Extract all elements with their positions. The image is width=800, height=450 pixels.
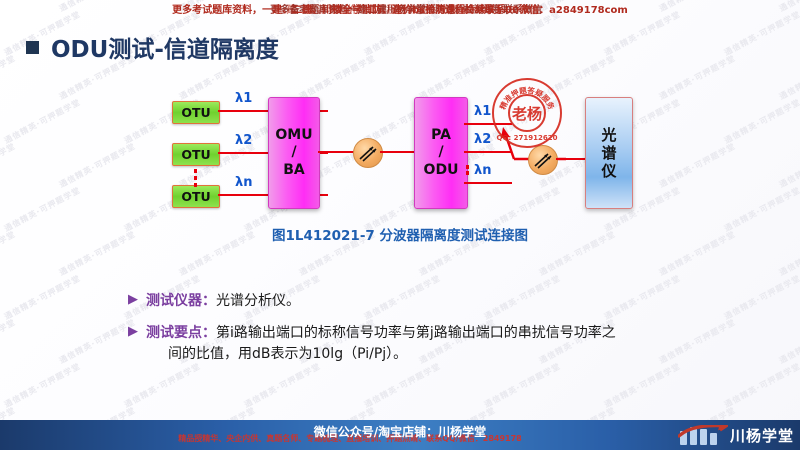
figure-caption: 图1L412021-7 分波器隔离度测试连接图 bbox=[0, 224, 800, 244]
seal-qq-text: QQ: 271912620 bbox=[497, 134, 558, 142]
watermark-tile: 通信精英·可押题学堂 bbox=[722, 361, 800, 411]
bullet-text-1: 光谱分析仪。 bbox=[216, 293, 300, 309]
bullet-label-1: 测试仪器： bbox=[146, 293, 216, 309]
square-bullet-icon bbox=[26, 41, 39, 54]
wire-atten-to-spectrometer bbox=[556, 158, 588, 160]
seal-center-text: 老杨 bbox=[508, 94, 546, 132]
top-marquee-bar: 一建二建消防造价检测课程咨询联系微信 a2849178 更多备考题库资料一建二建… bbox=[0, 0, 800, 20]
pa-odu-line-2: / bbox=[438, 144, 443, 162]
bullet-label-2: 测试要点： bbox=[146, 325, 216, 341]
slide-canvas: 通信精英·可押题学堂通信精英·可押题学堂通信精英·可押题学堂通信精英·可押题学堂… bbox=[0, 0, 800, 450]
otu-box-1: OTU bbox=[172, 101, 220, 124]
bullet-text-2: 第i路输出端口的标称信号功率与第j路输出端口的串扰信号功率之 bbox=[216, 325, 616, 341]
watermark-tile: 通信精英·可押题学堂 bbox=[2, 273, 82, 323]
brand-logo: 川杨学堂 bbox=[678, 422, 794, 448]
watermark-tile: 通信精英·可押题学堂 bbox=[0, 317, 18, 367]
lambda-input-3: λn bbox=[235, 175, 252, 190]
bullet-list: ▶ 测试仪器：光谱分析仪。 ▶ 测试要点：第i路输出端口的标称信号功率与第j路输… bbox=[128, 290, 728, 375]
watermark-tile: 通信精英·可押题学堂 bbox=[722, 273, 800, 323]
watermark-tile: 通信精英·可押题学堂 bbox=[57, 317, 137, 367]
bullet-arrow-icon-1: ▶ bbox=[128, 290, 138, 310]
omu-ba-line-2: / bbox=[291, 144, 296, 162]
spectrometer-line-2: 谱 bbox=[601, 144, 616, 162]
lambda-input-2: λ2 bbox=[235, 133, 252, 148]
page-title-text: ODU测试-信道隔离度 bbox=[51, 30, 279, 64]
omu-ba-line-1: OMU bbox=[275, 127, 312, 145]
otu-box-3: OTU bbox=[172, 185, 220, 208]
wire-output-3 bbox=[464, 182, 512, 184]
lambda-output-2: λ2 bbox=[474, 132, 491, 147]
wire-atten-to-pa bbox=[380, 151, 418, 153]
connection-diagram: OTU OTU OTU λ1 λ2 λn OMU / BA bbox=[0, 75, 800, 235]
spectrometer-line-3: 仪 bbox=[601, 162, 616, 180]
otu-box-2: OTU bbox=[172, 143, 220, 166]
lambda-output-3: λn bbox=[474, 163, 491, 178]
logo-swoosh-icon bbox=[678, 425, 728, 438]
watermark-tile: 通信精英·可押题学堂 bbox=[2, 361, 82, 411]
bullet-item-1: ▶ 测试仪器：光谱分析仪。 bbox=[128, 290, 728, 313]
output-ellipsis-icon bbox=[466, 165, 469, 175]
otu-ellipsis-icon bbox=[194, 169, 197, 187]
chuanyang-logo-icon bbox=[678, 423, 726, 447]
omu-ba-line-3: BA bbox=[283, 162, 305, 180]
lambda-output-1: λ1 bbox=[474, 104, 491, 119]
pa-odu-line-1: PA bbox=[431, 127, 451, 145]
brand-logo-text: 川杨学堂 bbox=[730, 425, 794, 446]
spectrometer-line-1: 光 bbox=[601, 126, 616, 144]
variable-attenuator-icon-2 bbox=[528, 145, 558, 175]
wire-omu-to-atten bbox=[318, 151, 356, 153]
bullet-item-2: ▶ 测试要点：第i路输出端口的标称信号功率与第j路输出端口的串扰信号功率之 间的… bbox=[128, 322, 728, 366]
top-marquee-line-1: 更多考试题库资料，一建、二建、川楼全学消防、造价bs检测课程持续联系00微信：a… bbox=[0, 1, 800, 16]
pa-odu-box: PA / ODU bbox=[414, 97, 468, 209]
omu-ba-box: OMU / BA bbox=[268, 97, 320, 209]
page-title: ODU测试-信道隔离度 bbox=[26, 30, 279, 64]
bullet-arrow-icon-2: ▶ bbox=[128, 322, 138, 342]
variable-attenuator-icon-1 bbox=[353, 138, 383, 168]
pa-odu-line-3: ODU bbox=[424, 162, 459, 180]
watermark-tile: 通信精英·可押题学堂 bbox=[777, 317, 800, 367]
bullet-text-2-continuation: 间的比值，用dB表示为10lg（Pi/Pj）。 bbox=[168, 344, 616, 366]
lambda-input-1: λ1 bbox=[235, 91, 252, 106]
footer-bar: 精品授精华、央企内供、真题名师、专题梳理、直播培训、押题点睛、联系QQ/微信：2… bbox=[0, 420, 800, 450]
spectrometer-box: 光 谱 仪 bbox=[585, 97, 633, 209]
seal-stamp-icon: 精准押题答疑服务 老杨 QQ: 271912620 bbox=[492, 78, 562, 148]
